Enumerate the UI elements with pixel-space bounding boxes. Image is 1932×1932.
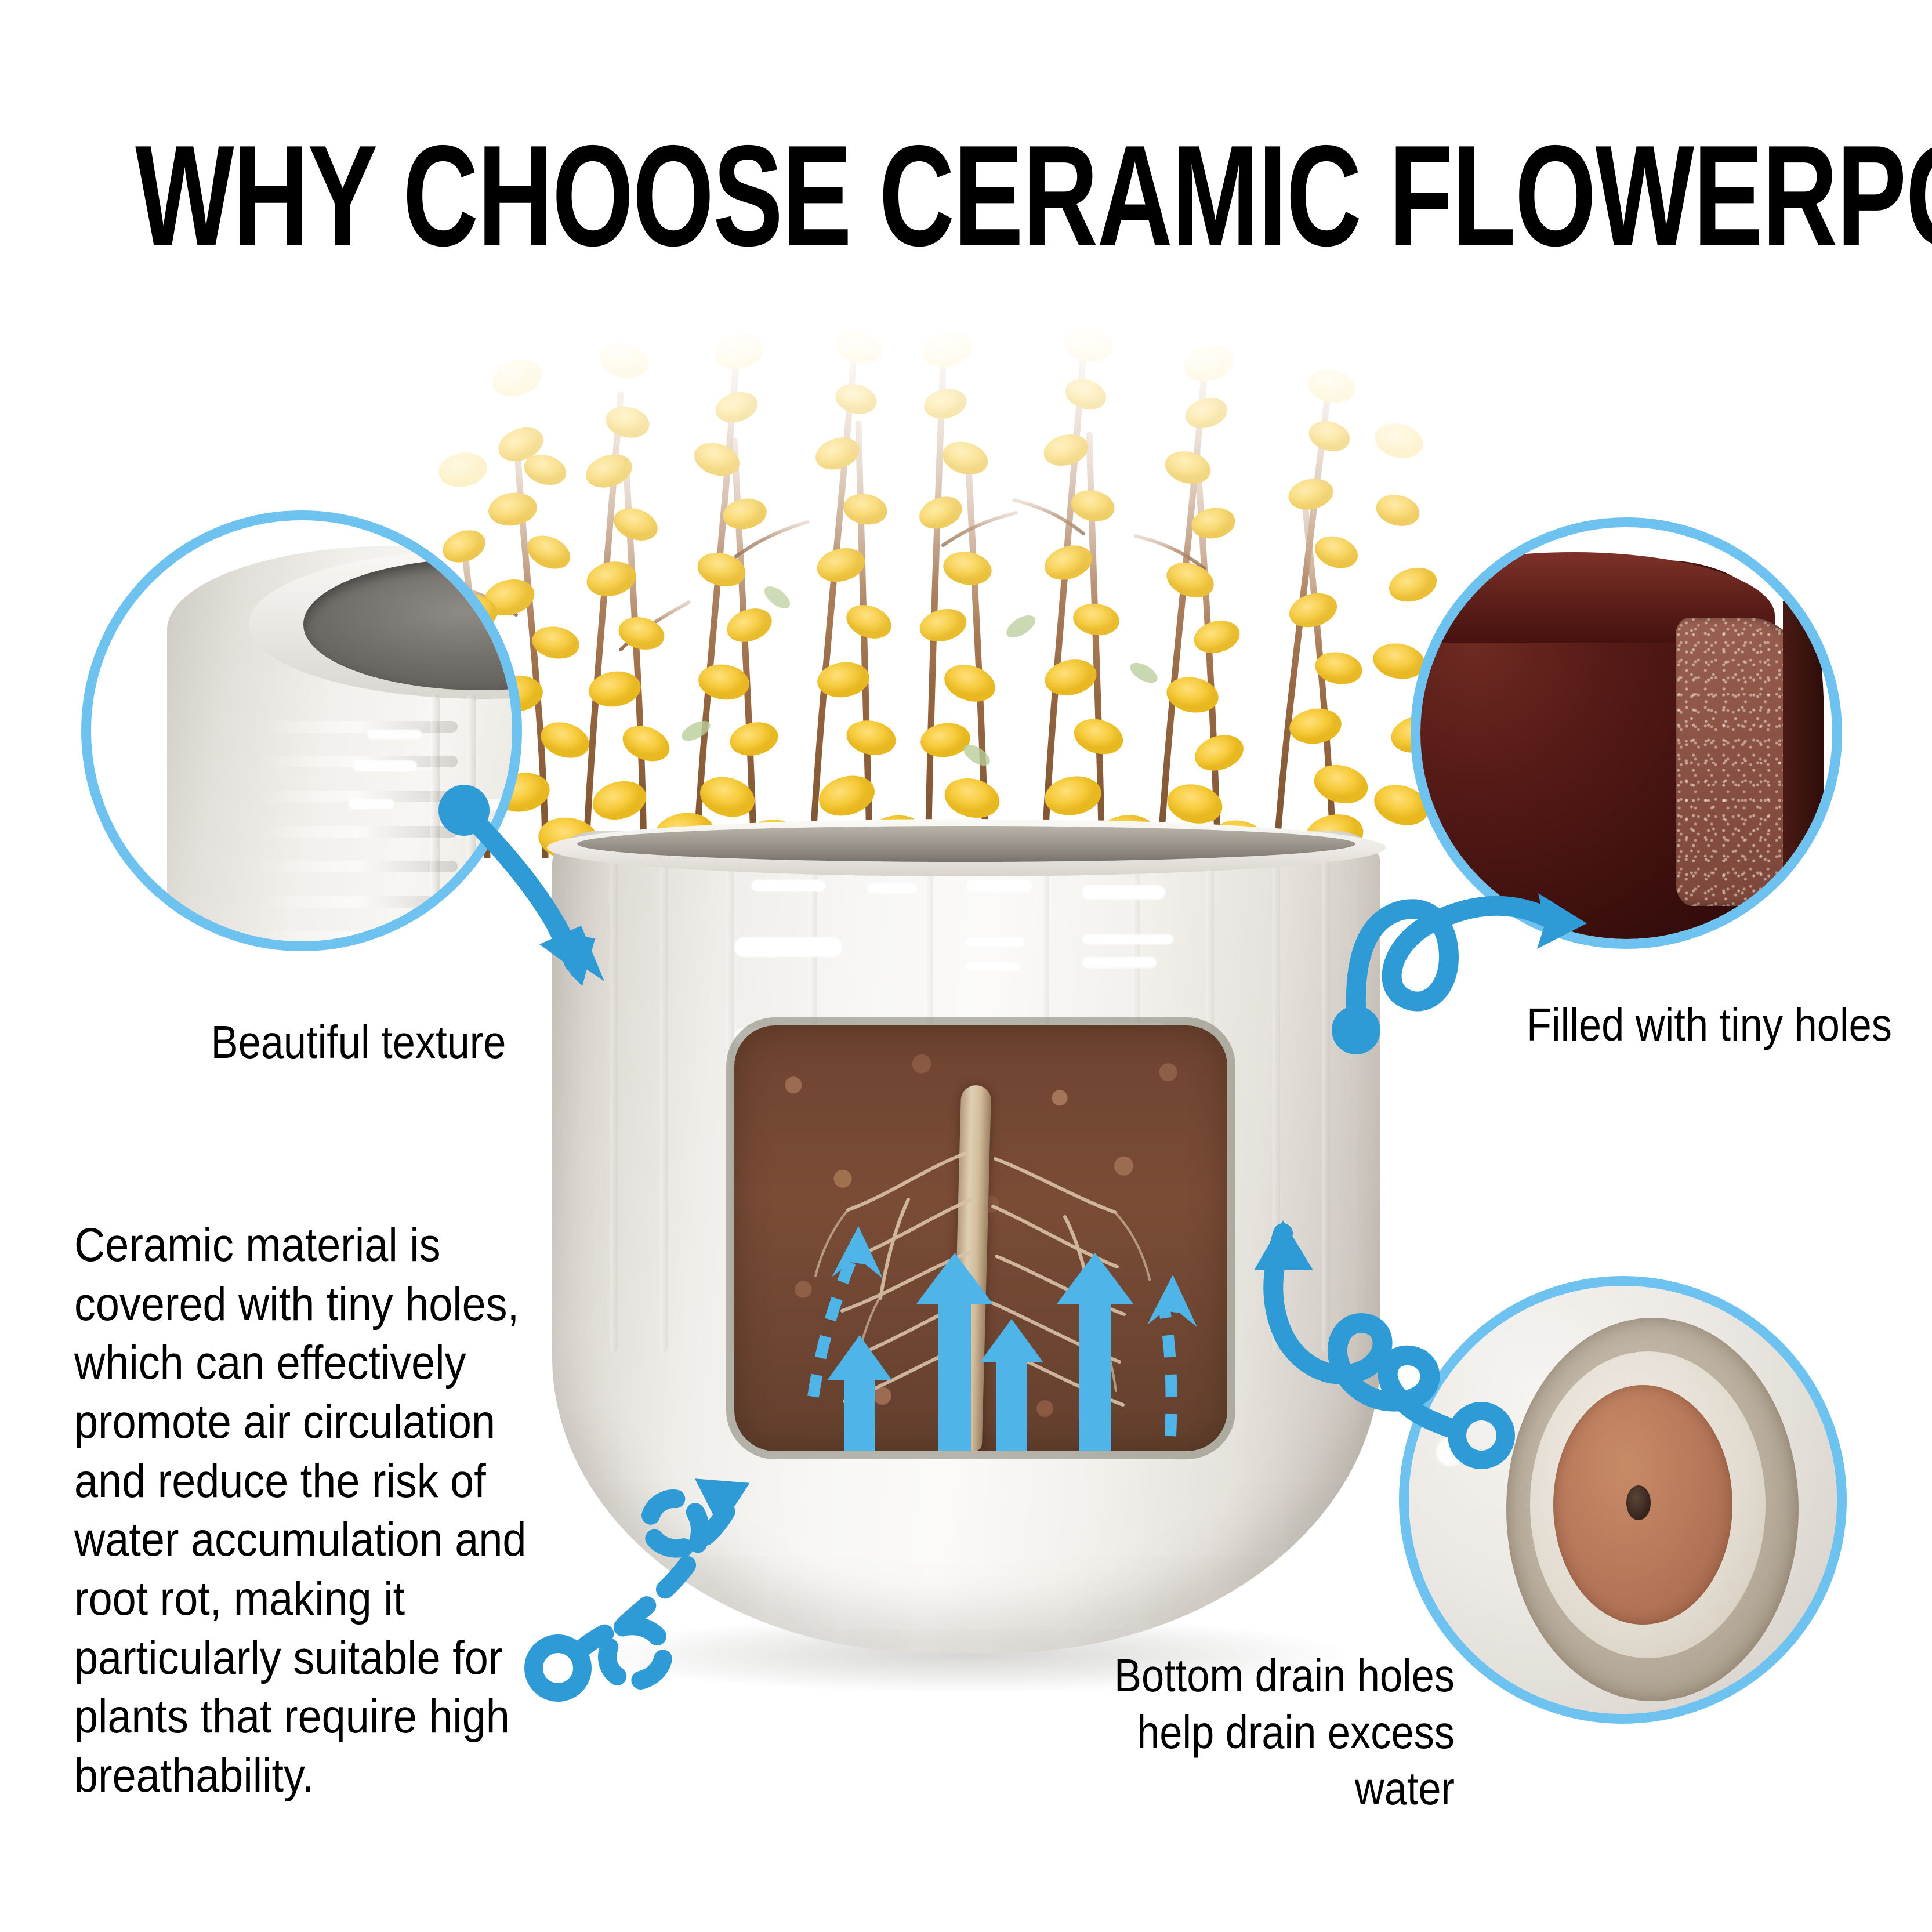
pot-rib xyxy=(726,843,734,1353)
body-paragraph: Ceramic material is covered with tiny ho… xyxy=(74,1216,534,1806)
glaze-outer-edge xyxy=(1783,601,1824,915)
pot-base xyxy=(1399,1276,1846,1724)
pot-highlight xyxy=(966,962,1020,970)
soil-root-cutaway-window xyxy=(734,1025,1227,1451)
pot-highlight xyxy=(1082,957,1157,967)
airflow-arrows-solid xyxy=(827,1253,1133,1451)
pot-rim-inner xyxy=(577,826,1355,862)
page-title: WHY CHOOSE CERAMIC FLOWERPOTS xyxy=(135,124,1797,268)
pot-rib xyxy=(1322,843,1330,1353)
pot-highlight xyxy=(867,883,917,893)
infographic-canvas: WHY CHOOSE CERAMIC FLOWERPOTS xyxy=(0,0,1932,1932)
gloss-highlight xyxy=(367,730,422,740)
roots-and-airflow xyxy=(734,1025,1227,1451)
pot-rib xyxy=(1273,843,1280,1353)
inset-filled-with-tiny-holes xyxy=(1411,517,1842,949)
ceramic-pot-closeup xyxy=(167,546,522,951)
pot-highlight xyxy=(734,937,842,957)
pot-highlight xyxy=(966,937,1024,947)
texture-rib xyxy=(258,896,458,908)
pot-rib xyxy=(660,843,668,1353)
inset-bottom-drain-holes xyxy=(1399,1276,1847,1724)
pot-highlight xyxy=(751,880,826,891)
drain-hole xyxy=(1626,1485,1651,1520)
pot-highlight xyxy=(1082,885,1165,900)
pot-rib xyxy=(610,843,618,1353)
label-bottom-drain-holes: Bottom drain holes help drain excess wat… xyxy=(1057,1647,1455,1817)
gloss-highlight xyxy=(349,799,394,809)
plant-illustration xyxy=(371,325,1473,858)
texture-rib xyxy=(258,721,458,733)
pot-highlight xyxy=(966,880,1032,892)
texture-rib xyxy=(430,694,440,951)
inset-beautiful-texture xyxy=(81,510,522,951)
label-filled-with-tiny-holes: Filled with tiny holes xyxy=(1527,996,1894,1053)
texture-rib xyxy=(258,861,458,872)
gloss-highlight xyxy=(1436,1438,1465,1467)
yellow-forsythia-flowers xyxy=(371,325,1473,858)
texture-rib xyxy=(467,694,476,951)
texture-rib xyxy=(258,931,458,943)
gloss-highlight xyxy=(353,760,417,772)
texture-rib xyxy=(258,826,458,838)
label-beautiful-texture: Beautiful texture xyxy=(165,1014,553,1071)
pot-highlight xyxy=(1082,934,1173,944)
